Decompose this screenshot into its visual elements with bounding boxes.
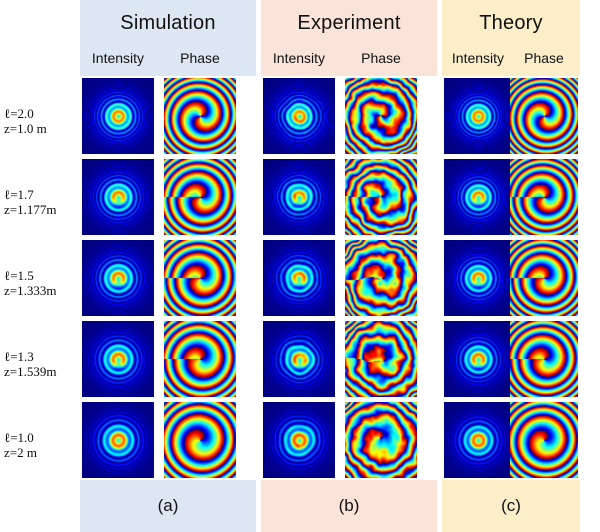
panel-experiment-phase-ell-1p5: [345, 240, 417, 316]
panel-theory-phase-ell-1p3: [510, 321, 578, 397]
row-label-line-z: z=2 m: [4, 445, 78, 460]
sublabel-simulation-intensity: Intensity: [82, 48, 154, 68]
sublabel-experiment-phase: Phase: [345, 48, 417, 68]
panel-simulation-phase-ell-2p0: [164, 78, 236, 154]
caption-a: (a): [80, 492, 256, 520]
panel-simulation-intensity-ell-1p7: [82, 159, 154, 235]
row-label-line-ell: ℓ=1.7: [4, 187, 78, 202]
panel-experiment-intensity-ell-1p5: [263, 240, 335, 316]
row-label-ell-2p0: ℓ=2.0 z=1.0 m: [4, 106, 78, 136]
row-label-line-ell: ℓ=1.0: [4, 430, 78, 445]
panel-experiment-phase-ell-2p0: [345, 78, 417, 154]
panel-theory-phase-ell-1p5: [510, 240, 578, 316]
panel-theory-intensity-ell-1p7: [444, 159, 512, 235]
row-label-line-ell: ℓ=1.3: [4, 349, 78, 364]
panel-theory-intensity-ell-1p3: [444, 321, 512, 397]
panel-experiment-phase-ell-1p7: [345, 159, 417, 235]
panel-simulation-intensity-ell-2p0: [82, 78, 154, 154]
group-title-theory: Theory: [442, 8, 580, 38]
row-label-line-z: z=1.0 m: [4, 121, 78, 136]
panel-experiment-phase-ell-1p3: [345, 321, 417, 397]
panel-experiment-intensity-ell-1p7: [263, 159, 335, 235]
panel-simulation-phase-ell-1p3: [164, 321, 236, 397]
sublabel-theory-intensity: Intensity: [444, 48, 512, 68]
panel-theory-phase-ell-1p7: [510, 159, 578, 235]
row-label-ell-1p3: ℓ=1.3 z=1.539m: [4, 349, 78, 379]
row-label-line-z: z=1.539m: [4, 364, 78, 379]
panel-theory-intensity-ell-1p5: [444, 240, 512, 316]
panel-theory-phase-ell-1p0: [510, 402, 578, 478]
caption-c: (c): [442, 492, 580, 520]
row-label-line-ell: ℓ=2.0: [4, 106, 78, 121]
caption-b: (b): [261, 492, 437, 520]
panel-simulation-phase-ell-1p0: [164, 402, 236, 478]
panel-theory-intensity-ell-1p0: [444, 402, 512, 478]
group-title-experiment: Experiment: [261, 8, 437, 38]
sublabel-theory-phase: Phase: [510, 48, 578, 68]
panel-simulation-phase-ell-1p5: [164, 240, 236, 316]
row-label-line-z: z=1.333m: [4, 283, 78, 298]
row-label-line-ell: ℓ=1.5: [4, 268, 78, 283]
row-label-line-z: z=1.177m: [4, 202, 78, 217]
panel-experiment-intensity-ell-1p3: [263, 321, 335, 397]
sublabel-experiment-intensity: Intensity: [263, 48, 335, 68]
panel-simulation-intensity-ell-1p5: [82, 240, 154, 316]
sublabel-simulation-phase: Phase: [164, 48, 236, 68]
panel-theory-phase-ell-2p0: [510, 78, 578, 154]
panel-simulation-phase-ell-1p7: [164, 159, 236, 235]
panel-experiment-intensity-ell-1p0: [263, 402, 335, 478]
panel-experiment-phase-ell-1p0: [345, 402, 417, 478]
row-label-ell-1p0: ℓ=1.0 z=2 m: [4, 430, 78, 460]
panel-theory-intensity-ell-2p0: [444, 78, 512, 154]
panel-simulation-intensity-ell-1p0: [82, 402, 154, 478]
panel-simulation-intensity-ell-1p3: [82, 321, 154, 397]
row-label-ell-1p5: ℓ=1.5 z=1.333m: [4, 268, 78, 298]
row-label-ell-1p7: ℓ=1.7 z=1.177m: [4, 187, 78, 217]
group-title-simulation: Simulation: [80, 8, 256, 38]
panel-experiment-intensity-ell-2p0: [263, 78, 335, 154]
